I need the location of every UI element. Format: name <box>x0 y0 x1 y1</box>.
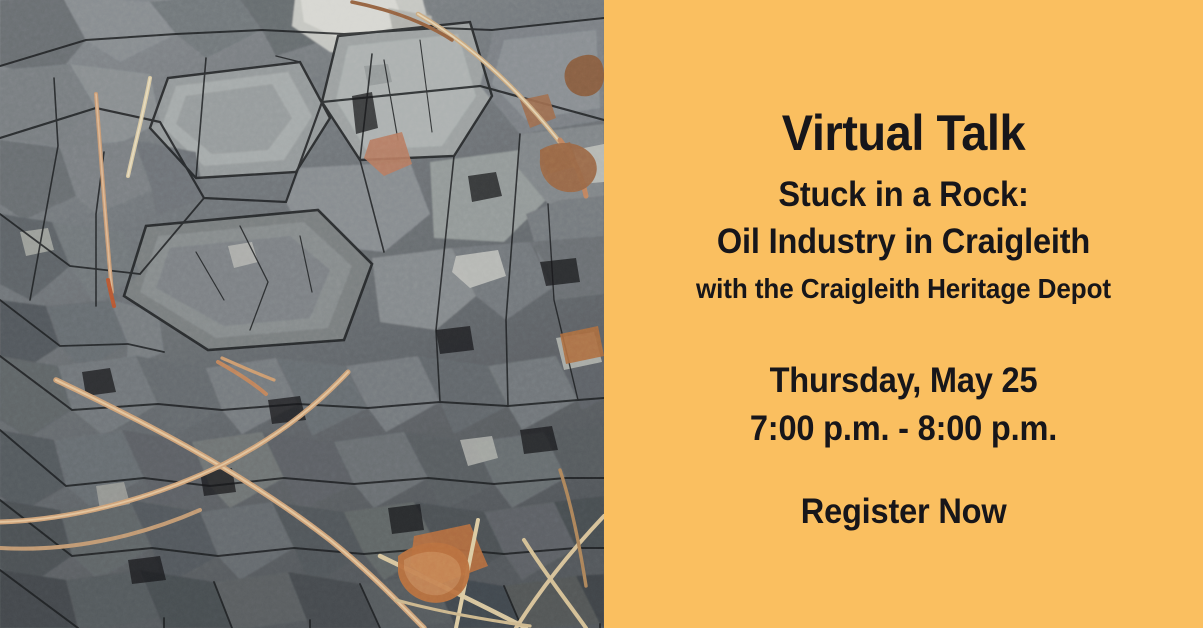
talk-title-line-2: Oil Industry in Craigleith <box>625 219 1182 266</box>
event-time: 7:00 p.m. - 8:00 p.m. <box>625 405 1182 453</box>
talk-title: Stuck in a Rock: Oil Industry in Craigle… <box>604 172 1203 266</box>
rock-photo <box>0 0 604 628</box>
event-schedule: Thursday, May 25 7:00 p.m. - 8:00 p.m. <box>604 357 1203 452</box>
event-date: Thursday, May 25 <box>625 357 1182 405</box>
event-type-heading: Virtual Talk <box>622 108 1185 158</box>
promo-content: Virtual Talk Stuck in a Rock: Oil Indust… <box>604 0 1203 531</box>
rock-photo-illustration <box>0 0 604 628</box>
register-now-button[interactable]: Register Now <box>801 493 1007 532</box>
talk-title-line-1: Stuck in a Rock: <box>625 172 1182 219</box>
event-promo-banner: Virtual Talk Stuck in a Rock: Oil Indust… <box>0 0 1203 628</box>
presenter-line: with the Craigleith Heritage Depot <box>625 272 1182 306</box>
promo-text-panel: Virtual Talk Stuck in a Rock: Oil Indust… <box>604 0 1203 628</box>
